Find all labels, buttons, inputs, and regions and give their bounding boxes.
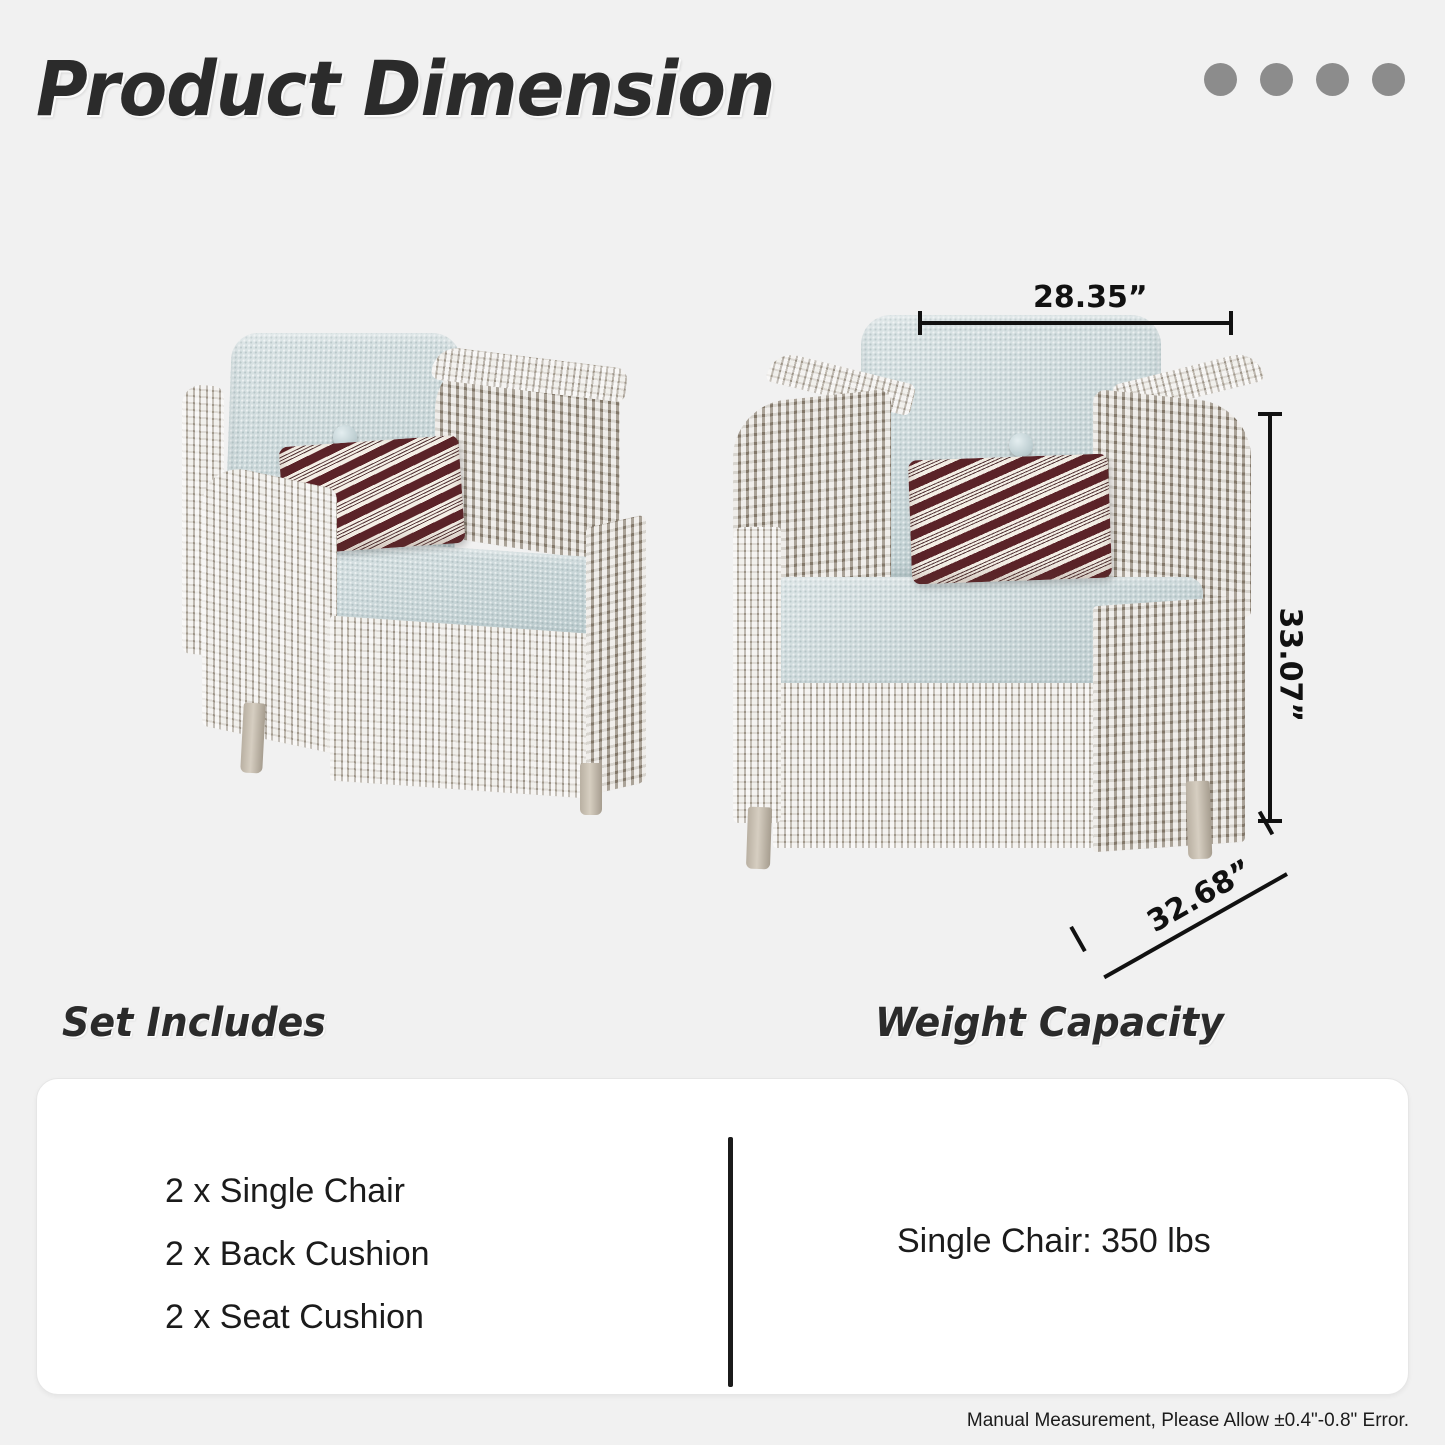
- width-line: [918, 321, 1233, 325]
- leg-front-right-right-chair: [1186, 781, 1213, 860]
- product-image-area: 28.35” 33.07” 32.68”: [0, 240, 1445, 980]
- product-dimension-infographic: Product Dimension: [0, 0, 1445, 1445]
- height-line: [1268, 413, 1272, 823]
- depth-tick-lower: [1069, 926, 1086, 952]
- measurement-disclaimer: Manual Measurement, Please Allow ±0.4"-0…: [967, 1410, 1409, 1432]
- weight-capacity-heading: Weight Capacity: [875, 1000, 1224, 1046]
- product-chair-right: [715, 315, 1260, 905]
- dot-indicator-2: [1260, 63, 1293, 96]
- pagination-dots: [1204, 63, 1405, 96]
- arm-front-left-right-chair: [733, 527, 781, 823]
- base-panel-left-chair: [330, 615, 602, 799]
- dot-indicator-4: [1372, 63, 1405, 96]
- card-divider: [728, 1137, 733, 1387]
- list-item: 2 x Seat Cushion: [165, 1286, 430, 1349]
- leg-front-left-chair: [240, 702, 266, 773]
- list-item: 2 x Single Chair: [165, 1160, 430, 1223]
- dot-indicator-1: [1204, 63, 1237, 96]
- base-panel-right-chair: [773, 683, 1103, 848]
- height-label: 33.07”: [1273, 608, 1308, 723]
- leg-right-left-chair: [580, 763, 602, 815]
- weight-capacity-value: Single Chair: 350 lbs: [897, 1222, 1211, 1261]
- list-item: 2 x Back Cushion: [165, 1223, 430, 1286]
- accent-pillow-right: [908, 454, 1112, 585]
- set-includes-list: 2 x Single Chair 2 x Back Cushion 2 x Se…: [165, 1160, 430, 1349]
- base-panel-side-left-chair: [586, 514, 646, 796]
- dot-indicator-3: [1316, 63, 1349, 96]
- product-chair-left: [180, 325, 650, 845]
- tuft-button-right: [1009, 433, 1033, 457]
- height-tick-top: [1258, 412, 1282, 416]
- base-panel-side-right-chair: [1093, 596, 1245, 853]
- page-title: Product Dimension: [36, 44, 774, 133]
- width-tick-left: [918, 311, 922, 335]
- set-includes-heading: Set Includes: [62, 1000, 326, 1046]
- width-tick-right: [1229, 311, 1233, 335]
- leg-front-left-right-chair: [746, 807, 772, 870]
- width-label: 28.35”: [1033, 280, 1148, 315]
- side-panel-left-left-chair: [202, 461, 337, 755]
